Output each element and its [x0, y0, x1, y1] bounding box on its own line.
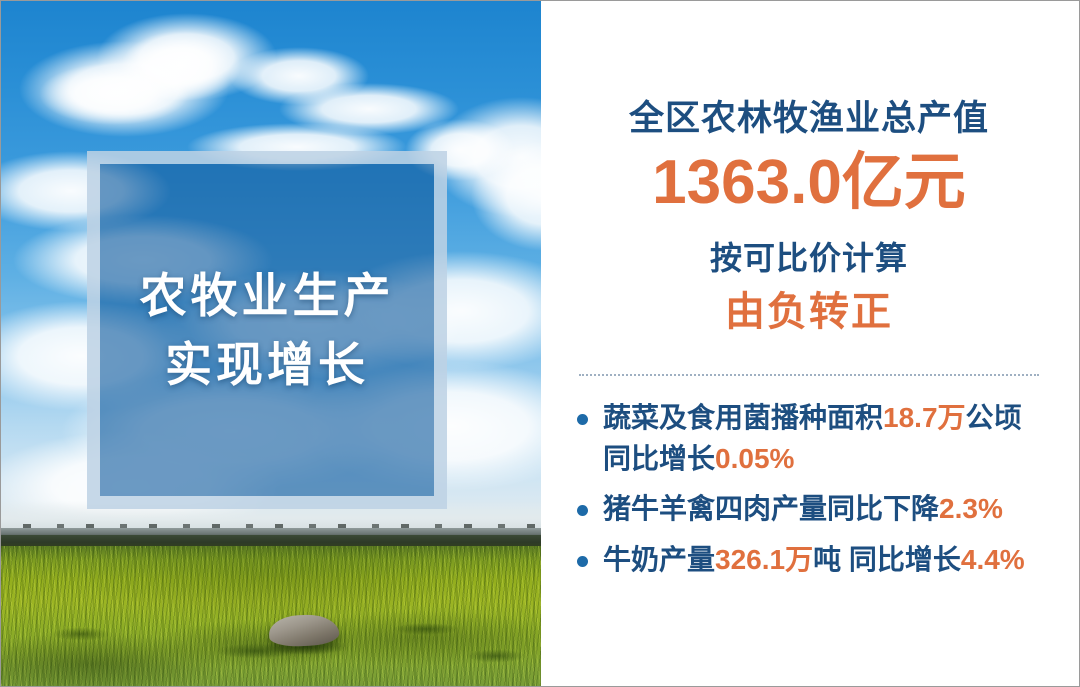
bullet-dot-icon: [577, 505, 588, 516]
stat-label: 全区农林牧渔业总产值: [573, 97, 1045, 141]
bullet-dot-icon: [577, 556, 588, 567]
list-item-text: 公顷: [966, 402, 1022, 433]
stat-note: 按可比价计算: [573, 238, 1045, 280]
list-item-line: 牛奶产量326.1万吨 同比增长4.4%: [603, 540, 1045, 581]
list-item: 猪牛羊禽四肉产量同比下降2.3%: [573, 489, 1045, 530]
stat-value: 1363.0亿元: [573, 145, 1045, 221]
bullet-list: 蔬菜及食用菌播种面积18.7万公顷同比增长0.05%猪牛羊禽四肉产量同比下降2.…: [573, 398, 1045, 580]
grass-tuft: [41, 625, 121, 643]
list-item-text: 同比增长: [603, 443, 715, 474]
stat-highlight: 由负转正: [573, 286, 1045, 338]
highlighted-figure: 2.3%: [939, 493, 1003, 524]
list-item-text: 吨 同比增长: [813, 544, 961, 575]
dotted-divider: [579, 374, 1039, 376]
infographic-root: 农牧业生产 实现增长 全区农林牧渔业总产值 1363.0亿元 按可比价计算 由负…: [0, 0, 1080, 687]
highlighted-figure: 0.05%: [715, 443, 794, 474]
overlay-title-line-2: 实现增长: [165, 336, 369, 393]
bullet-dot-icon: [577, 414, 588, 425]
highlighted-figure: 4.4%: [961, 544, 1025, 575]
highlighted-figure: 326.1万: [715, 544, 813, 575]
list-item-line: 蔬菜及食用菌播种面积18.7万公顷: [603, 398, 1045, 439]
highlighted-figure: 18.7万: [883, 402, 966, 433]
grassland-landscape-photo: 农牧业生产 实现增长: [1, 1, 541, 686]
grass-field: [1, 546, 541, 686]
grass-tuft: [456, 647, 536, 665]
list-item-line: 猪牛羊禽四肉产量同比下降2.3%: [603, 489, 1045, 530]
overlay-title-line-1: 农牧业生产: [140, 267, 395, 324]
list-item-line: 同比增长0.05%: [603, 439, 1045, 480]
grass-shading: [1, 546, 541, 686]
list-item-text: 蔬菜及食用菌播种面积: [603, 402, 883, 433]
list-item: 蔬菜及食用菌播种面积18.7万公顷同比增长0.05%: [573, 398, 1045, 479]
list-item-text: 猪牛羊禽四肉产量同比下降: [603, 493, 939, 524]
overlay-title-box: 农牧业生产 实现增长: [87, 151, 447, 509]
list-item-text: 牛奶产量: [603, 544, 715, 575]
list-item: 牛奶产量326.1万吨 同比增长4.4%: [573, 540, 1045, 581]
stats-panel: 全区农林牧渔业总产值 1363.0亿元 按可比价计算 由负转正 蔬菜及食用菌播种…: [541, 1, 1079, 686]
grass-tuft: [381, 621, 471, 637]
